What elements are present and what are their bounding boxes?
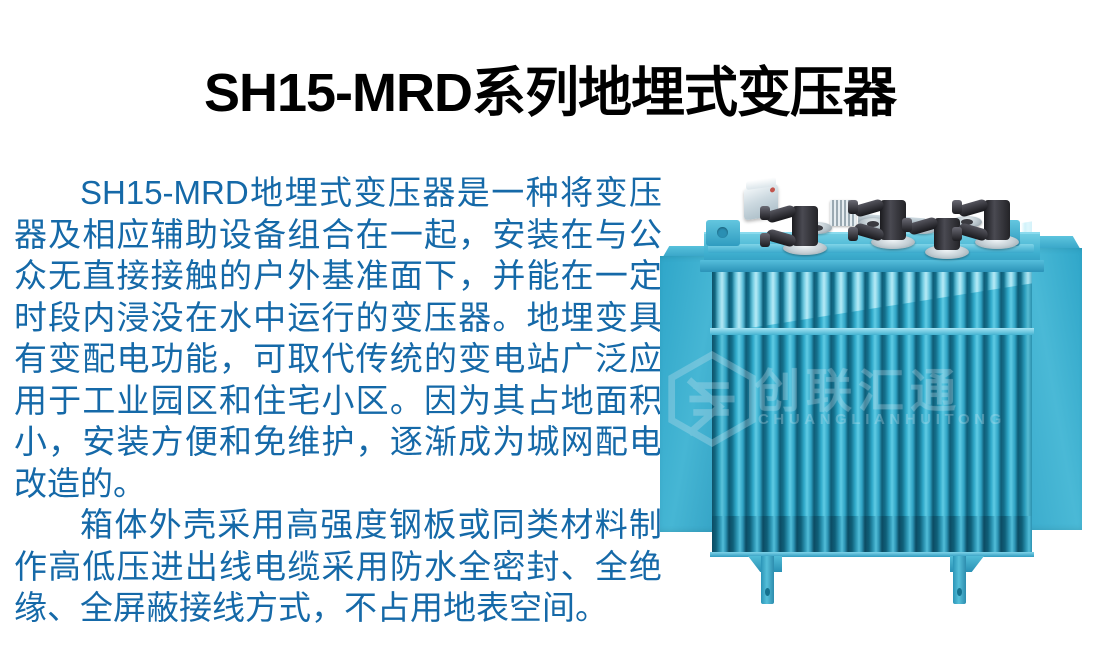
oil-gauge-indicator-icon <box>770 187 775 193</box>
tank-deck-band <box>700 260 1044 272</box>
description-paragraph-2: 箱体外壳采用高强度钢板或同类材料制作高低压进出线电缆采用防水全密封、全绝缘、全屏… <box>14 504 662 629</box>
bushing-upper-cap <box>902 218 912 232</box>
mounting-foot-leg <box>953 556 966 604</box>
product-photo: 创联汇通 CHUANGLIANHUITONG <box>652 160 1092 620</box>
product-photo-canvas: 创联汇通 CHUANGLIANHUITONG <box>652 160 1092 620</box>
bushing-upper-cap <box>848 200 858 214</box>
lifting-lug-left-icon <box>706 220 740 246</box>
bushing-lower-cap <box>760 233 770 247</box>
mounting-foot-left <box>748 556 792 604</box>
mounting-foot-bolt-hole <box>765 588 770 596</box>
page-title: SH15-MRD系列地埋式变压器 <box>0 62 1100 124</box>
product-description: SH15-MRD地埋式变压器是一种将变压器及相应辅助设备组合在一起，安装在与公众… <box>14 172 662 629</box>
bushing-upper-cap <box>952 200 962 214</box>
radiator-fin-cap-rail <box>710 328 1034 335</box>
mounting-foot-bolt-hole <box>957 588 962 596</box>
mounting-foot-right <box>940 556 984 604</box>
bushing-upper-cap <box>760 206 770 220</box>
radiator-fin-lower-shadow <box>712 516 1032 554</box>
description-paragraph-1: SH15-MRD地埋式变压器是一种将变压器及相应辅助设备组合在一起，安装在与公众… <box>14 172 662 504</box>
bushing-lower-cap <box>848 227 858 241</box>
product-detail-page: SH15-MRD系列地埋式变压器 SH15-MRD地埋式变压器是一种将变压器及相… <box>0 0 1100 651</box>
mounting-foot-leg <box>761 556 774 604</box>
bushing-lower-cap <box>952 227 962 241</box>
